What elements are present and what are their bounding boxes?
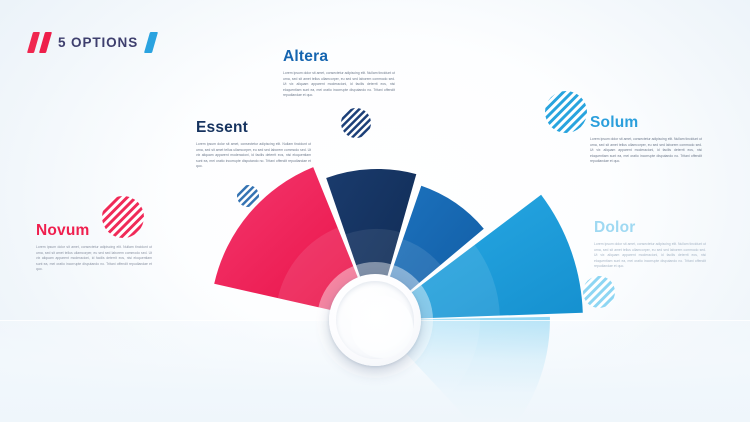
label-essent-body: Lorem ipsum dolor sit amet, consectetur … [196,142,311,170]
label-novum-body: Lorem ipsum dolor sit amet, consectetur … [36,245,152,273]
striped-circle-blue-icon [545,91,587,133]
label-essent[interactable]: Essent Lorem ipsum dolor sit amet, conse… [196,119,311,170]
label-novum[interactable]: Novum Lorem ipsum dolor sit amet, consec… [36,222,152,273]
label-solum-body: Lorem ipsum dolor sit amet, consectetur … [590,137,702,165]
label-altera-body: Lorem ipsum dolor sit amet, consectetur … [283,71,395,99]
label-solum[interactable]: Solum Lorem ipsum dolor sit amet, consec… [590,114,702,165]
label-dolor-title: Dolor [594,219,706,237]
striped-circle-blue-dark-icon [237,185,259,207]
label-altera[interactable]: Altera Lorem ipsum dolor sit amet, conse… [283,48,395,99]
label-essent-title: Essent [196,119,311,137]
striped-circle-lightblue-icon [583,276,615,308]
striped-circle-navy-icon [341,108,371,138]
label-novum-title: Novum [36,222,152,240]
label-altera-title: Altera [283,48,395,66]
hub-ring [336,281,414,359]
label-dolor[interactable]: Dolor Lorem ipsum dolor sit amet, consec… [594,219,706,270]
infographic-canvas: 5 OPTIONS [0,0,750,422]
hub-core [351,296,413,358]
label-dolor-body: Lorem ipsum dolor sit amet, consectetur … [594,242,706,270]
center-hub[interactable] [329,274,421,366]
label-solum-title: Solum [590,114,702,132]
